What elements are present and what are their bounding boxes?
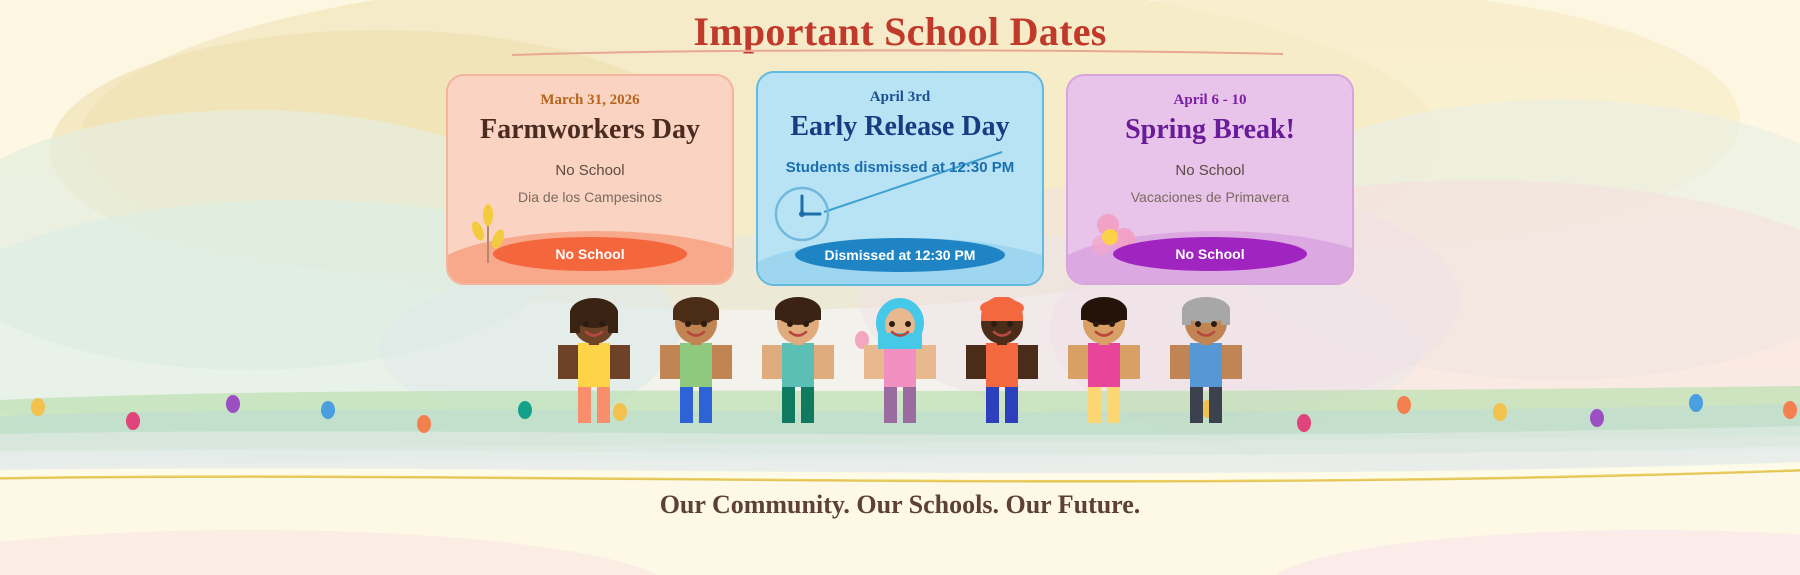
date-card-early-release-day[interactable]: April 3rd Early Release Day Students dis…: [756, 71, 1044, 286]
card-title: Farmworkers Day: [448, 115, 732, 146]
poster-canvas: Important School Dates March 31, 2026 Fa…: [0, 0, 1800, 575]
card-title: Early Release Day: [758, 112, 1042, 143]
card-subtitle-es: Dia de los Campesinos: [448, 189, 732, 205]
students-illustration: [0, 295, 1800, 425]
card-subtitle: Students dismissed at 12:30 PM: [758, 159, 1042, 176]
card-date: April 6 - 10: [1068, 92, 1352, 109]
card-date: March 31, 2026: [448, 92, 732, 109]
date-card-spring-break[interactable]: April 6 - 10 Spring Break! No School Vac…: [1066, 74, 1354, 285]
student-figure: [650, 297, 742, 425]
student-figure: [752, 297, 844, 425]
dismissal-time-badge[interactable]: Dismissed at 12:30 PM: [795, 238, 1005, 272]
card-subtitle-es: Vacaciones de Primavera: [1068, 189, 1352, 205]
card-date: April 3rd: [758, 89, 1042, 106]
card-subtitle: No School: [448, 162, 732, 179]
title-underline: [510, 48, 1285, 58]
dates-card-row: March 31, 2026 Farmworkers Day No School…: [0, 74, 1800, 289]
card-subtitle: No School: [1068, 162, 1352, 179]
student-figure: [1160, 297, 1252, 425]
tagline: Our Community. Our Schools. Our Future.: [0, 490, 1800, 520]
student-figure: [854, 297, 946, 425]
student-figure: [1058, 297, 1150, 425]
card-title: Spring Break!: [1068, 115, 1352, 146]
student-figure: [548, 297, 640, 425]
student-figure: [956, 297, 1048, 425]
date-card-farmworkers-day[interactable]: March 31, 2026 Farmworkers Day No School…: [446, 74, 734, 285]
no-school-badge[interactable]: No School: [493, 237, 687, 271]
no-school-badge[interactable]: No School: [1113, 237, 1307, 271]
